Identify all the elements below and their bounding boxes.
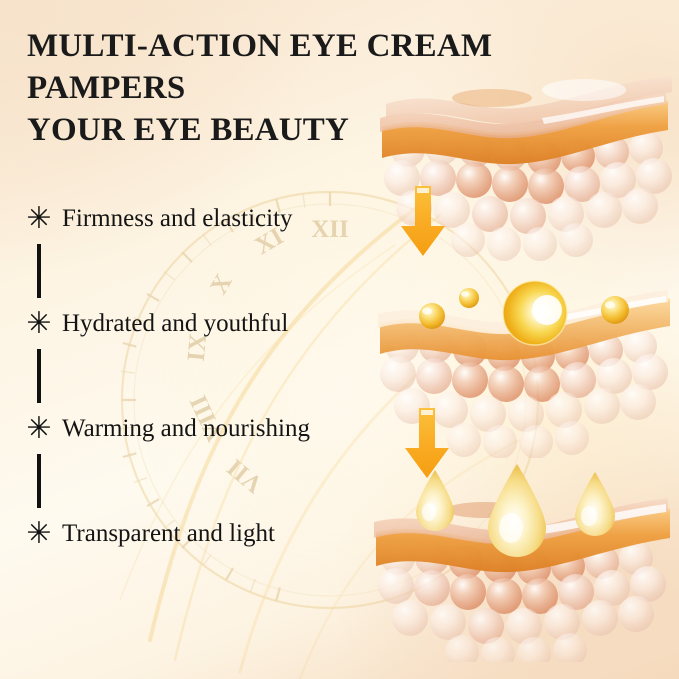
serum-droplet-right — [575, 472, 615, 536]
bullet-connector-line — [37, 454, 41, 508]
serum-droplet-left — [416, 470, 454, 531]
right-glow — [400, 230, 679, 560]
serum-capsule-small-right — [601, 296, 629, 324]
serum-capsule-small-left — [419, 303, 445, 329]
serum-capsule-large — [503, 281, 567, 345]
page-title: MULTI-ACTION EYE CREAM PAMPERS YOUR EYE … — [27, 25, 547, 151]
list-item: ✳ Warming and nourishing — [18, 412, 418, 517]
skin-cross-section-with-serum-capsules — [372, 268, 679, 458]
serum-droplet-center — [488, 464, 546, 557]
serum-capsule-small-top — [459, 288, 479, 308]
asterisk-bullet-icon: ✳ — [24, 412, 54, 446]
asterisk-bullet-icon: ✳ — [24, 307, 54, 341]
benefit-label: Warming and nourishing — [62, 412, 310, 446]
list-item: ✳ Transparent and light — [18, 517, 418, 563]
product-infographic-canvas: XII XI X IX VIII VII MULTI-ACTION EYE CR… — [0, 0, 679, 679]
list-item: ✳ Firmness and elasticity — [18, 202, 418, 307]
benefit-label: Hydrated and youthful — [62, 307, 288, 341]
bullet-connector-line — [37, 244, 41, 298]
benefit-label: Transparent and light — [62, 517, 275, 551]
benefits-list: ✳ Firmness and elasticity ✳ Hydrated and… — [18, 202, 418, 563]
benefit-label: Firmness and elasticity — [62, 202, 293, 236]
skin-cross-section-with-droplets — [372, 462, 679, 662]
asterisk-bullet-icon: ✳ — [24, 202, 54, 236]
asterisk-bullet-icon: ✳ — [24, 517, 54, 551]
list-item: ✳ Hydrated and youthful — [18, 307, 418, 412]
bullet-connector-line — [37, 349, 41, 403]
